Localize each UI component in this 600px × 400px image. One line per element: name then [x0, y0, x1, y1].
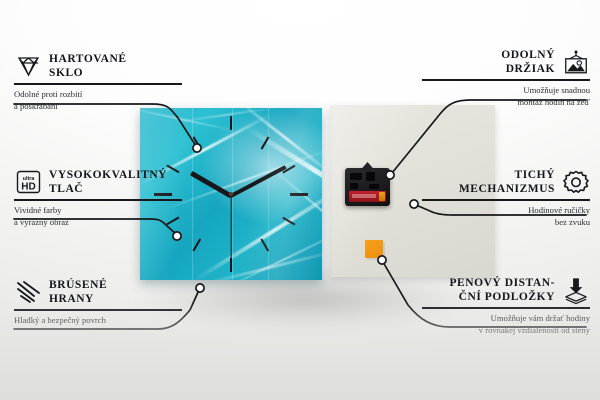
ultra-hd-badge-icon: ultra HD	[14, 168, 42, 196]
feature-durable-hanger: ODOLNÝ DRŽIAK Umožňuje snadnou montáž ho…	[422, 48, 590, 108]
feature-subtitle: Hodinové ručičky bez zvuku	[422, 204, 590, 228]
feature-subtitle: Vividné farby a výrazný obraz	[14, 204, 182, 228]
feature-title: TICHÝ MECHANIZMUS	[459, 168, 555, 196]
picture-hanger-icon	[562, 48, 590, 76]
feature-title: VYSOKOKVALITNÝ TLAČ	[49, 168, 167, 196]
svg-text:HD: HD	[21, 182, 35, 193]
feature-header: ODOLNÝ DRŽIAK	[422, 48, 590, 76]
feature-title: ODOLNÝ DRŽIAK	[501, 48, 555, 76]
feature-subtitle: Umožňuje snadnou montáž hodin na zeď	[422, 84, 590, 108]
feature-rule	[14, 83, 182, 85]
feature-header: HARTOVANÉ SKLO	[14, 52, 182, 80]
diamond-icon	[14, 52, 42, 80]
feature-rule	[422, 199, 590, 201]
feature-high-quality-print: ultra HD VYSOKOKVALITNÝ TLAČ Vividné far…	[14, 168, 182, 228]
connector-node-silent-mechanism	[410, 200, 418, 208]
connector-node-durable-hanger	[386, 171, 394, 179]
connector-durable-hanger	[392, 100, 586, 173]
feature-rule	[14, 199, 182, 201]
connector-node-tempered-glass	[193, 144, 201, 152]
feature-rule	[422, 79, 590, 81]
infographic-canvas: HARTOVANÉ SKLO Odolné proti rozbití a po…	[0, 0, 600, 400]
connector-node-high-quality-print	[173, 232, 181, 240]
feature-title: HARTOVANÉ SKLO	[49, 52, 127, 80]
feature-header: TICHÝ MECHANIZMUS	[422, 168, 590, 196]
bottom-gradient-fade	[0, 300, 600, 400]
connector-node-foam-spacers	[378, 256, 386, 264]
feature-tempered-glass: HARTOVANÉ SKLO Odolné proti rozbití a po…	[14, 52, 182, 112]
feature-header: ultra HD VYSOKOKVALITNÝ TLAČ	[14, 168, 182, 196]
feature-subtitle: Odolné proti rozbití a poškrábání	[14, 88, 182, 112]
connector-node-polished-edges	[196, 284, 204, 292]
feature-silent-mechanism: TICHÝ MECHANIZMUS Hodinové ručičky bez z…	[422, 168, 590, 228]
gear-icon	[562, 168, 590, 196]
